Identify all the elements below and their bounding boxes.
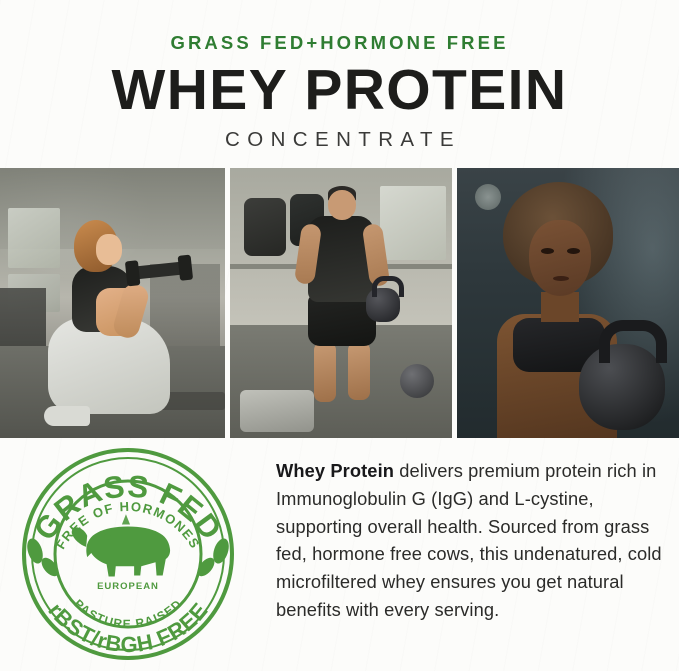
photo-man-kettlebell-gym bbox=[230, 168, 452, 438]
grass-fed-badge: GRASS FED FREE OF HORMONES rBST/rBGH FRE… bbox=[17, 443, 239, 665]
product-infographic: GRASS FED+HORMONE FREE WHEY PROTEIN CONC… bbox=[0, 0, 679, 671]
badge-center-label: EUROPEAN bbox=[97, 581, 159, 592]
photo-woman-kettlebell-gym bbox=[457, 168, 679, 438]
bottom-block: GRASS FED FREE OF HORMONES rBST/rBGH FRE… bbox=[0, 438, 679, 671]
description-rest: delivers premium protein rich in Immunog… bbox=[276, 460, 662, 620]
photo-strip bbox=[0, 168, 679, 438]
description-lead: Whey Protein bbox=[276, 460, 394, 481]
page-subtitle: CONCENTRATE bbox=[218, 128, 461, 152]
header-block: GRASS FED+HORMONE FREE WHEY PROTEIN CONC… bbox=[0, 0, 679, 168]
photo-woman-dumbbell-gym bbox=[0, 168, 225, 438]
page-title: WHEY PROTEIN bbox=[112, 61, 568, 119]
eyebrow-text: GRASS FED+HORMONE FREE bbox=[170, 32, 508, 54]
description-text: Whey Protein delivers premium protein ri… bbox=[276, 457, 666, 624]
